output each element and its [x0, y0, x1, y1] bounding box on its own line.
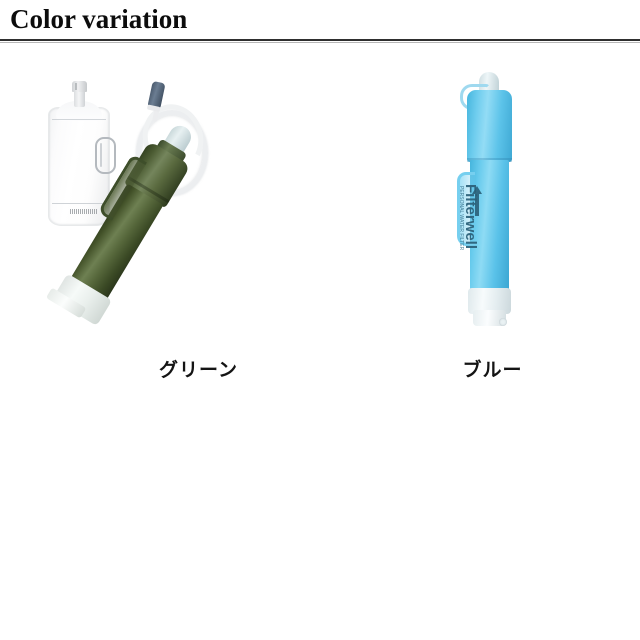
- divider-line-thick: [0, 39, 640, 41]
- pouch-seam-bottom: [52, 203, 106, 204]
- variant-blue[interactable]: Filterwell PERSONAL WATER FILTER ブルー: [345, 46, 640, 401]
- header-divider: [0, 39, 640, 43]
- carabiner-icon: [95, 137, 116, 174]
- variant-green-label: グリーン: [0, 358, 371, 382]
- filter-blue-cap-nub: [499, 318, 507, 326]
- water-filter-straw-blue-icon: Filterwell PERSONAL WATER FILTER: [451, 72, 523, 332]
- filter-blue-cap: [467, 90, 512, 162]
- filter-blue-brand-subtext: PERSONAL WATER FILTER: [458, 186, 464, 250]
- page-header: Color variation: [0, 0, 640, 46]
- variant-blue-label: ブルー: [345, 358, 640, 382]
- pouch-seam-top: [52, 119, 106, 120]
- filter-blue-brand-text: Filterwell: [463, 184, 478, 206]
- variant-green-photo: [0, 46, 345, 356]
- divider-line-thin: [0, 42, 640, 43]
- variant-green[interactable]: グリーン: [0, 46, 345, 401]
- color-variation-grid: グリーン Filterwell PERSONAL WATER FILTER ブル…: [0, 46, 640, 401]
- variant-blue-photo: Filterwell PERSONAL WATER FILTER: [345, 46, 640, 356]
- pouch-cap: [72, 81, 87, 92]
- page-title: Color variation: [10, 2, 187, 36]
